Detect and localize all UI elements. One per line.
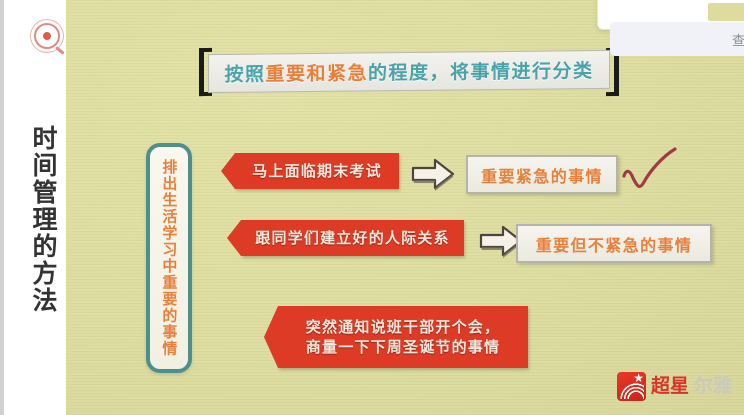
watermark-brand-secondary: 尔雅	[694, 377, 732, 396]
course-vertical-title: 时间管理的方法	[20, 125, 56, 314]
check-mark-icon	[614, 145, 680, 203]
app-root: 时间管理的方法 按照重要和紧急的程度，将事情进行分类 排出生活学习中重要的事情 …	[0, 0, 744, 415]
result-card-1: 重要紧急的事情	[466, 155, 618, 194]
item-banner-2: 跟同学们建立好的人际关系	[241, 220, 464, 256]
slide-canvas: 按照重要和紧急的程度，将事情进行分类 排出生活学习中重要的事情 马上面临期末考试…	[66, 0, 744, 415]
view-more-label: 查看	[732, 30, 744, 49]
headline-prefix: 按照	[224, 64, 265, 86]
result-card-2-label: 重要但不紧急的事情	[536, 232, 693, 256]
chaoxing-logo-icon	[617, 372, 646, 401]
item-banner-3: 突然通知说班干部开个会， 商量一下下周圣诞节的事情	[278, 306, 528, 368]
source-card: 排出生活学习中重要的事情	[146, 143, 192, 373]
slide-headline-banner: 按照重要和紧急的程度，将事情进行分类	[199, 48, 619, 96]
thumbnail-chip	[708, 3, 744, 21]
result-card-1-label: 重要紧急的事情	[481, 163, 603, 187]
headline-suffix: 的程度，将事情进行分类	[368, 60, 594, 84]
result-card-2: 重要但不紧急的事情	[516, 224, 712, 263]
watermark-logo: 超星 尔雅	[617, 371, 732, 401]
view-more-bar[interactable]: 查看	[610, 22, 744, 56]
left-sidebar: 时间管理的方法	[0, 0, 66, 415]
watermark-brand-primary: 超星	[651, 377, 689, 396]
item-banner-1: 马上面临期末考试	[235, 153, 399, 189]
item-banner-3-line2: 商量一下下周圣诞节的事情	[306, 338, 500, 356]
headline-plate: 按照重要和紧急的程度，将事情进行分类	[208, 50, 610, 93]
magnifier-icon[interactable]	[34, 23, 60, 49]
item-banner-3-line1: 突然通知说班干部开个会，	[306, 318, 500, 336]
item-banner-2-label: 跟同学们建立好的人际关系	[255, 228, 449, 248]
item-banner-1-label: 马上面临期末考试	[252, 161, 382, 181]
block-arrow-right-icon	[411, 157, 455, 191]
headline-highlight: 重要和紧急	[265, 62, 368, 85]
source-card-label: 排出生活学习中重要的事情	[161, 159, 178, 357]
